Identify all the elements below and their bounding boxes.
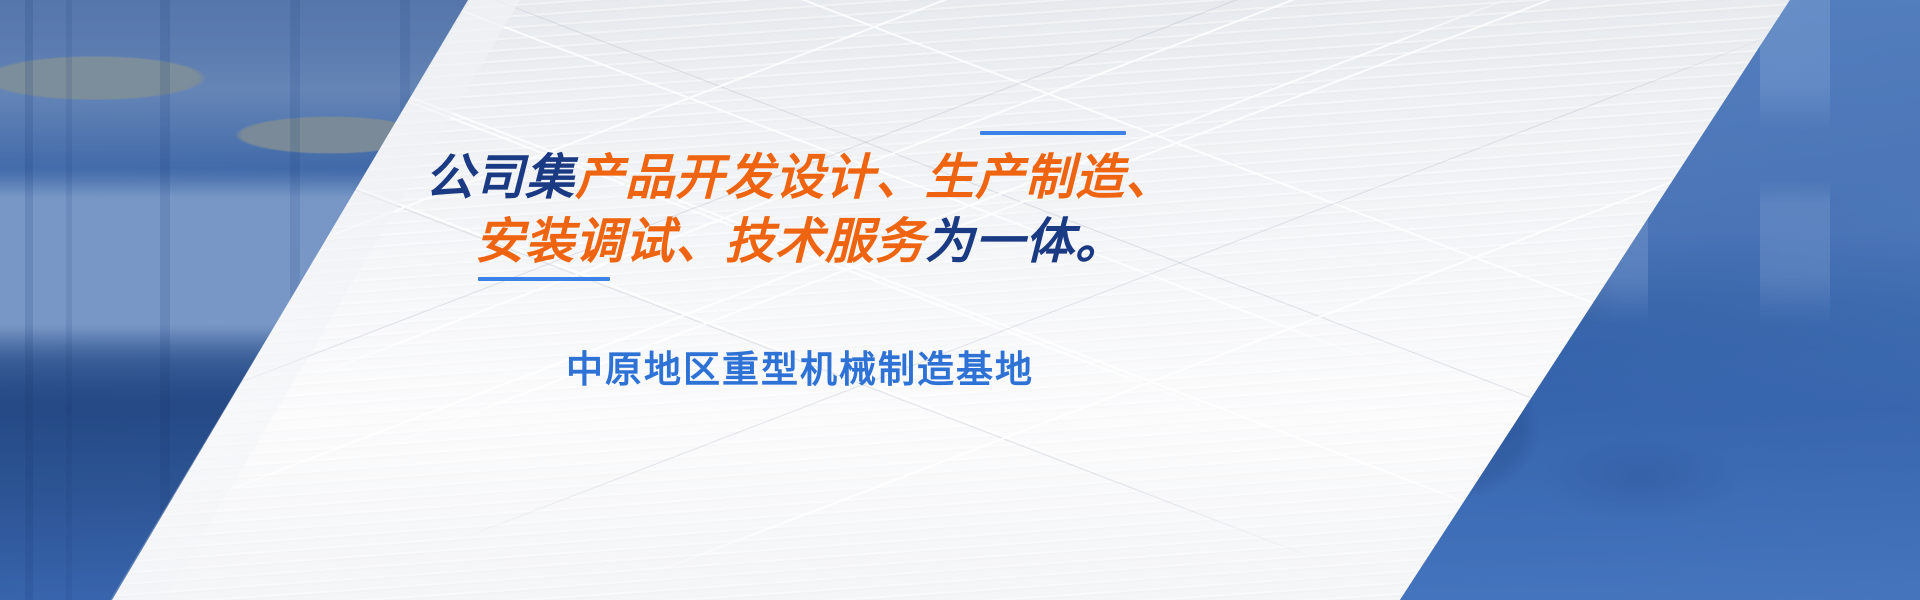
hero-banner: 公司集产品开发设计、生产制造、 安装调试、技术服务为一体。 中原地区重型机械制造… — [0, 0, 1920, 600]
